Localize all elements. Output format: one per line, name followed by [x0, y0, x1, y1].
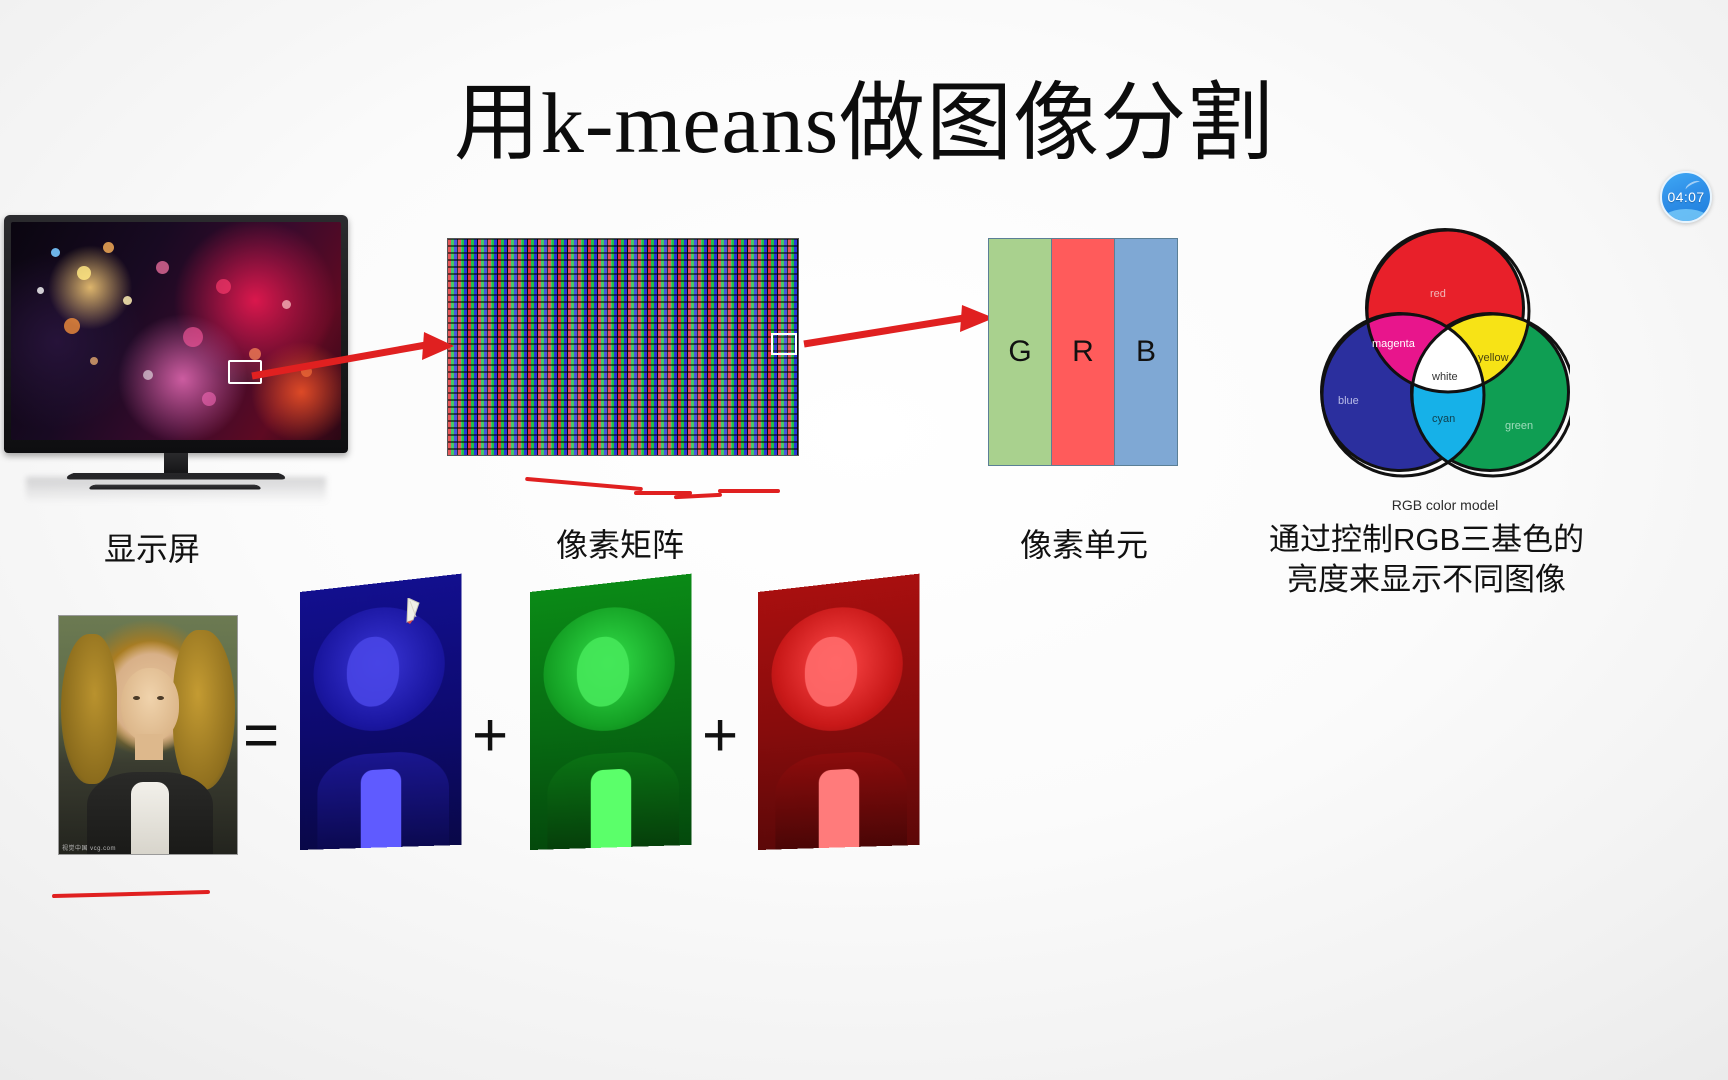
portrait-hair-left: [61, 634, 117, 784]
portrait-hair-right: [173, 630, 235, 790]
tv-stand-neck: [164, 453, 188, 475]
plus-sign-1: +: [472, 700, 508, 771]
timer-wave-decoration: [1660, 209, 1712, 223]
rgb-model-caption: RGB color model: [1320, 497, 1570, 513]
pen-cursor-icon[interactable]: [405, 598, 427, 624]
ink-stroke-matrix-4: [718, 489, 780, 493]
ink-stroke-portrait: [52, 890, 210, 898]
red-channel-plane: [758, 574, 920, 850]
original-portrait-photo: 视觉中国 vcg.com: [58, 615, 238, 855]
equals-sign: =: [243, 700, 279, 771]
portrait-neck: [135, 734, 163, 760]
pixel-matrix-illustration: [447, 238, 799, 456]
caption-pixel-matrix: 像素矩阵: [556, 520, 684, 566]
blue-channel-plane: [300, 574, 462, 850]
portrait-vest: [131, 782, 169, 854]
note-line-1: 通过控制RGB三基色的: [1269, 520, 1599, 560]
venn-label-red: red: [1430, 288, 1446, 300]
caption-pixel-cell: 像素单元: [1020, 520, 1148, 566]
arrow-display-to-matrix: [248, 330, 458, 390]
timer-value: 04:07: [1667, 189, 1704, 205]
caption-display: 显示屏: [104, 524, 200, 570]
subpixel-green: G: [989, 239, 1051, 465]
venn-label-yellow: yellow: [1478, 352, 1509, 364]
portrait-watermark: 视觉中国 vcg.com: [62, 843, 116, 852]
page-title: 用k-means做图像分割: [0, 52, 1728, 177]
subpixel-red: R: [1051, 239, 1114, 465]
rgb-venn-diagram: red blue green magenta yellow cyan white: [1320, 228, 1570, 478]
pixel-matrix-zoom-marquee: [771, 333, 797, 355]
pixel-cell-illustration: G R B: [988, 238, 1178, 466]
timer-badge[interactable]: 04:07: [1660, 171, 1712, 223]
note-line-2: 亮度来显示不同图像: [1269, 560, 1599, 600]
venn-overlap-shapes: [1320, 228, 1570, 478]
green-channel-plane: [530, 574, 692, 850]
rgb-explanation-note: 通过控制RGB三基色的 亮度来显示不同图像: [1269, 520, 1599, 599]
plus-sign-2: +: [702, 700, 738, 771]
subpixel-blue: B: [1114, 239, 1177, 465]
venn-label-blue: blue: [1338, 395, 1359, 407]
pixel-matrix-scanlines: [448, 239, 798, 455]
portrait-face: [121, 668, 179, 742]
venn-label-magenta: magenta: [1372, 338, 1415, 350]
venn-label-cyan: cyan: [1432, 413, 1455, 425]
arrow-matrix-to-cell: [800, 300, 1000, 360]
tv-reflection: [26, 477, 326, 503]
venn-label-white: white: [1432, 371, 1458, 383]
venn-label-green: green: [1505, 420, 1533, 432]
ink-stroke-matrix-1: [525, 477, 643, 491]
